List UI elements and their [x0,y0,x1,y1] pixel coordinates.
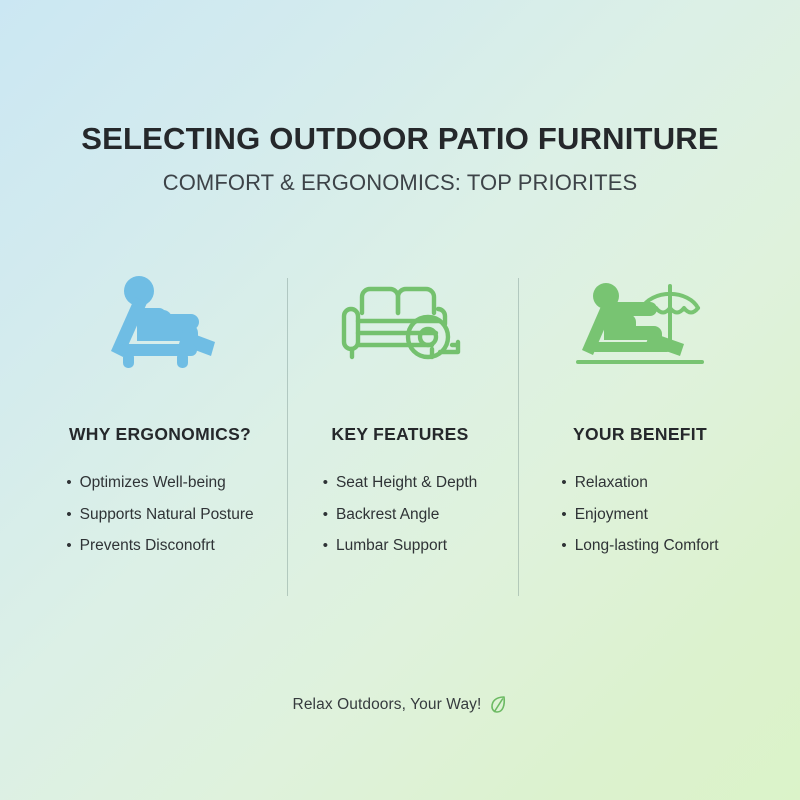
list-item-label: Supports Natural Posture [80,507,254,523]
list-item: • Relaxation [561,475,718,491]
bullet-glyph: • [561,507,566,522]
header: SELECTING OUTDOOR PATIO FURNITURE COMFOR… [0,0,800,196]
person-reclining-lounge-chair-icon [99,272,221,368]
page-title: SELECTING OUTDOOR PATIO FURNITURE [0,122,800,156]
column-key-features: KEY FEATURES • Seat Height & Depth • Bac… [280,268,520,554]
bullet-glyph: • [66,475,71,490]
column-why-ergonomics: WHY ERGONOMICS? • Optimizes Well-being •… [40,268,280,554]
list-item: • Enjoyment [561,507,718,523]
bullet-list: • Seat Height & Depth • Backrest Angle •… [323,475,478,554]
page-subtitle: COMFORT & ERGONOMICS: TOP PRIORITES [0,170,800,196]
person-on-beach-lounger-with-parasol-icon [576,272,704,368]
list-item-label: Lumbar Support [336,538,447,554]
column-heading: KEY FEATURES [331,424,468,445]
sofa-with-tape-measure-icon [336,277,464,363]
bullet-list: • Relaxation • Enjoyment • Long-lasting … [561,475,718,554]
column-your-benefit: YOUR BENEFIT • Relaxation • Enjoyment • … [520,268,760,554]
list-item-label: Seat Height & Depth [336,475,477,491]
column-divider-2 [518,278,519,596]
column-divider-1 [287,278,288,596]
bullet-glyph: • [323,475,328,490]
icon-container [99,268,221,372]
bullet-list: • Optimizes Well-being • Supports Natura… [66,475,253,554]
footer-tagline: Relax Outdoors, Your Way! [293,696,482,714]
columns-section: WHY ERGONOMICS? • Optimizes Well-being •… [40,268,760,554]
bullet-glyph: • [323,538,328,553]
list-item-label: Long-lasting Comfort [575,538,719,554]
list-item: • Backrest Angle [323,507,478,523]
list-item-label: Backrest Angle [336,507,439,523]
list-item: • Supports Natural Posture [66,507,253,523]
column-heading: YOUR BENEFIT [573,424,707,445]
bullet-glyph: • [323,507,328,522]
list-item: • Long-lasting Comfort [561,538,718,554]
list-item-label: Relaxation [575,475,648,491]
icon-container [576,268,704,372]
list-item-label: Optimizes Well-being [80,475,226,491]
infographic-poster: SELECTING OUTDOOR PATIO FURNITURE COMFOR… [0,0,800,800]
bullet-glyph: • [561,475,566,490]
list-item-label: Prevents Disconofrt [80,538,215,554]
column-heading: WHY ERGONOMICS? [69,424,251,445]
bullet-glyph: • [561,538,566,553]
bullet-glyph: • [66,507,71,522]
bullet-glyph: • [66,538,71,553]
list-item: • Prevents Disconofrt [66,538,253,554]
leaf-icon [490,695,507,714]
footer: Relax Outdoors, Your Way! [0,695,800,714]
list-item: • Seat Height & Depth [323,475,478,491]
icon-container [336,268,464,372]
list-item: • Optimizes Well-being [66,475,253,491]
list-item-label: Enjoyment [575,507,648,523]
list-item: • Lumbar Support [323,538,478,554]
